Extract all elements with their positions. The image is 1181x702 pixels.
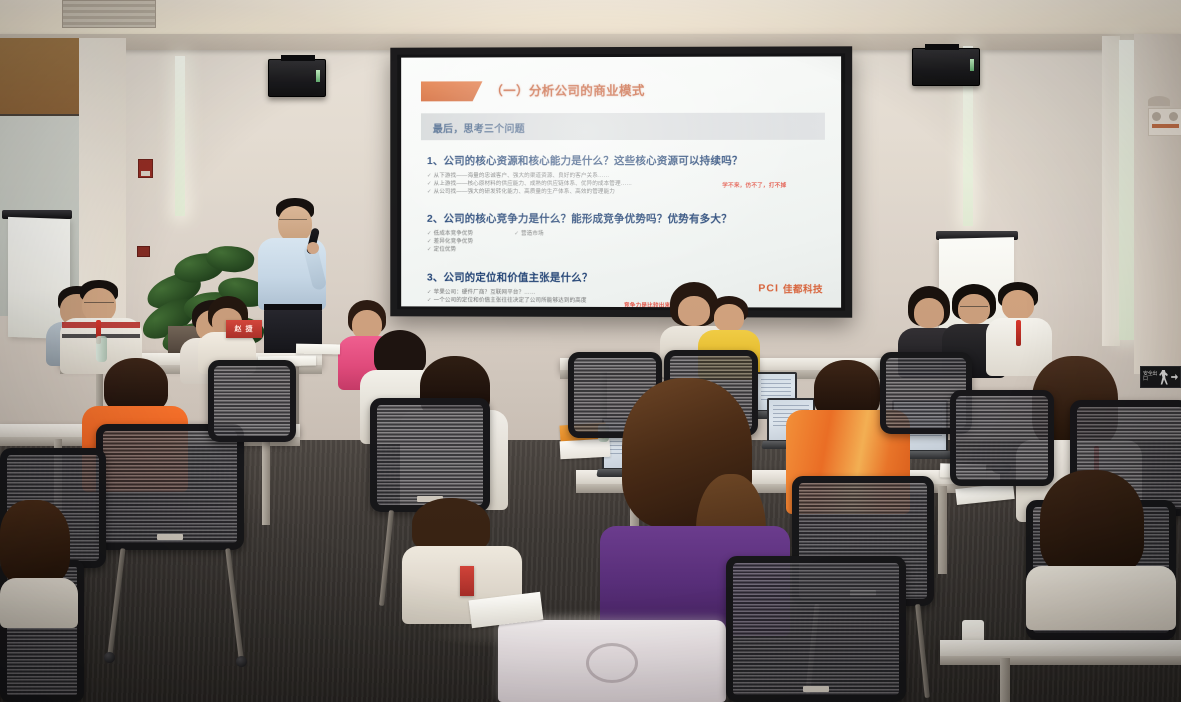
presenter	[252, 198, 338, 358]
table-foreground	[940, 640, 1181, 658]
name-card-text: 赵 捷	[235, 324, 254, 334]
chair-foreground-right[interactable]	[726, 556, 906, 702]
presenter-head	[278, 206, 312, 242]
chair-caster	[104, 652, 115, 663]
table-name-card: 赵 捷	[226, 320, 262, 338]
ceiling-speaker-right	[912, 48, 980, 86]
presenter-hand	[307, 242, 319, 254]
red-card-foreground	[460, 566, 474, 596]
lanyard	[1016, 320, 1021, 346]
glasses-icon	[84, 302, 114, 307]
attendee-foreground-far-left	[0, 500, 78, 620]
fire-alarm-icon	[138, 159, 153, 178]
hp-logo-icon	[586, 643, 638, 683]
projection-screen: （一）分析公司的商业模式 最后，思考三个问题 1、公司的核心资源和核心能力是什么…	[390, 46, 852, 317]
attendee-foreground-right	[1026, 470, 1176, 620]
window-slot-left	[175, 56, 185, 216]
running-man-exit-icon	[1159, 370, 1169, 385]
training-room: 安全出口 （一）分析公司的商业模式	[0, 0, 1181, 702]
chair-4[interactable]	[208, 360, 296, 442]
window-mullion	[1102, 36, 1120, 346]
glasses-icon	[960, 306, 988, 311]
presenter-glasses-icon	[279, 219, 307, 224]
table-leg	[1000, 658, 1010, 702]
wall-control-plate	[1148, 108, 1181, 136]
arrow-right-icon	[1171, 373, 1178, 382]
wall-fixture-icon	[1148, 96, 1170, 106]
exit-sign-label: 安全出口	[1143, 372, 1157, 382]
right-wall	[1134, 34, 1181, 374]
table-leg	[262, 439, 270, 525]
wood-wall-panel	[0, 38, 82, 118]
ceiling-speaker-left	[268, 59, 326, 97]
exit-sign: 安全出口	[1140, 366, 1181, 388]
window-slot-right	[1119, 40, 1135, 340]
presenter-belt	[264, 304, 322, 310]
ceiling-vent	[62, 0, 156, 28]
chair-caster	[236, 656, 247, 667]
presentation-photo: 安全出口 （一）分析公司的商业模式	[0, 0, 1181, 702]
laptop-foreground-hp[interactable]	[498, 620, 726, 702]
table-leg	[938, 486, 947, 574]
chair-1[interactable]	[96, 424, 244, 550]
chair-3[interactable]	[370, 398, 490, 512]
paper-stack-7	[296, 344, 340, 355]
